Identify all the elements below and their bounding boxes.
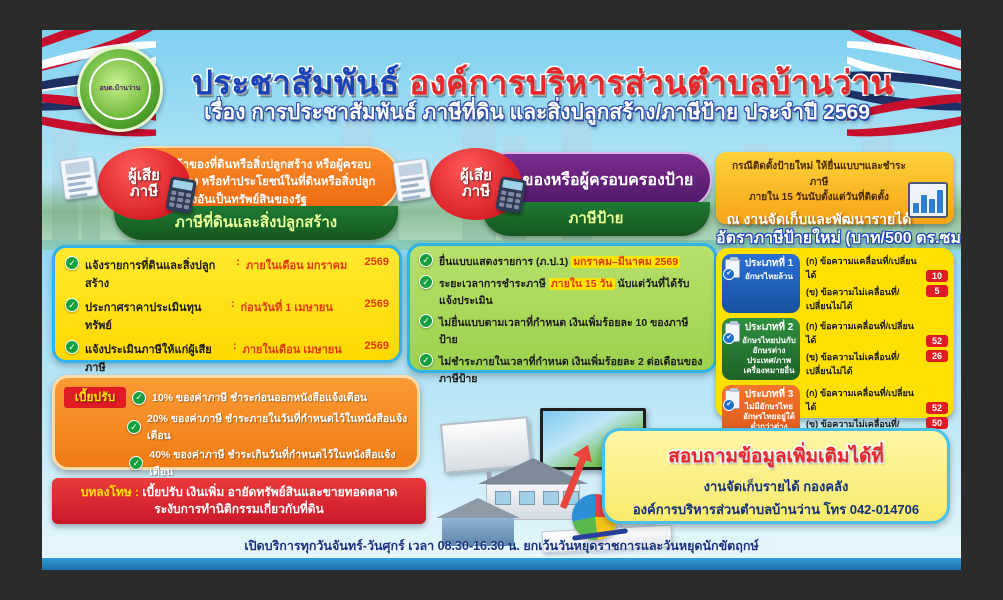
rate-category-title: ประเภทที่ 3 <box>742 389 796 402</box>
document-icon-sign <box>392 158 431 202</box>
colon-separator: : <box>233 340 237 352</box>
rate-lines: (ก) ข้อความเคลื่อนที่/เปลี่ยนได้ (ข) ข้อ… <box>806 318 920 380</box>
service-hours-footer: เปิดบริการทุกวันจันทร์-วันศุกร์ เวลา 08.… <box>42 536 961 556</box>
sign-payer-line1: ผู้เสีย <box>460 168 492 184</box>
contact-line2: องค์การบริหารส่วนตำบลบ้านว่าน โทร 042-01… <box>613 499 939 520</box>
schedule-item-label: ประกาศราคาประเมินทุนทรัพย์ <box>85 298 225 334</box>
clipboard-check-icon <box>725 259 740 278</box>
bottom-accent-bar <box>42 558 961 570</box>
rate-row: ประเภทที่ 2 อักษรไทยปนกับ อักษรต่างประเท… <box>722 318 948 380</box>
check-icon: ✓ <box>65 256 79 270</box>
bar-chart-monitor-icon <box>908 182 948 218</box>
sign-payer-line2: ภาษี <box>462 184 490 200</box>
rate-line-text: (ก) ข้อความแคลื่อนที่/เปลี่ยนได้ <box>806 254 920 282</box>
new-sign-line2: ภายใน 15 วันนับตั้งแต่วันที่ติดตั้ง <box>749 192 889 203</box>
check-icon: ✓ <box>419 353 433 367</box>
fine-tag-spacer <box>64 426 121 428</box>
sign-tax-bullets-panel: ✓ ยื่นแบบแสดงรายการ (ภ.ป.1) มกราคม–มีนาค… <box>407 243 717 373</box>
rate-category-1: ประเภทที่ 1 อักษรไทยล้วน <box>722 254 800 313</box>
sign-bullet-pre: ยื่นแบบแสดงรายการ (ภ.ป.1) <box>439 256 571 268</box>
criminal-line1: เบี้ยปรับ เงินเพิ่ม อายัดทรัพย์สินและขาย… <box>139 485 397 499</box>
fine-item: 20% ของค่าภาษี ชำระภายในวันที่กำหนดไว้ใน… <box>147 410 408 444</box>
check-icon: ✓ <box>127 420 141 434</box>
rate-row: ประเภทที่ 1 อักษรไทยล้วน (ก) ข้อความแคลื… <box>722 254 948 313</box>
sign-bullet: ระยะเวลาการชำระภาษี ภายใน 15 วัน นับแต่ว… <box>439 275 705 309</box>
rate-category-title: ประเภทที่ 1 <box>742 258 796 271</box>
contact-line1: งานจัดเก็บรายได้ กองคลัง <box>613 476 939 497</box>
contact-heading: สอบถามข้อมูลเพิ่มเติมได้ที่ <box>613 441 939 471</box>
check-icon: ✓ <box>65 298 79 312</box>
rate-value: 50 <box>926 417 948 429</box>
sign-bullet-pre: ระยะเวลาการชำระภาษี <box>439 278 549 290</box>
schedule-item-year: 2569 <box>356 298 389 310</box>
clipboard-check-icon <box>725 390 740 409</box>
schedule-item-when: ก่อนวันที่ 1 เมษายน <box>240 298 349 316</box>
crest-inner-text: อบต.บ้านว่าน <box>89 58 151 120</box>
rate-value: 10 <box>926 270 948 282</box>
check-icon: ✓ <box>65 340 79 354</box>
document-icon-land <box>59 156 98 200</box>
new-sign-line1: กรณีติดตั้งป้ายใหม่ ให้ยื่นแบบฯและชำระภา… <box>732 161 906 188</box>
criminal-tag: บทลงโทษ : <box>81 485 139 499</box>
contact-box: สอบถามข้อมูลเพิ่มเติมได้ที่ งานจัดเก็บรา… <box>602 428 950 524</box>
criminal-penalty-bar: บทลงโทษ : เบี้ยปรับ เงินเพิ่ม อายัดทรัพย… <box>52 478 426 524</box>
rate-category-desc: อักษรไทยปนกับ อักษรต่างประเทศ/ภาพ เครื่อ… <box>742 336 796 375</box>
fine-item: 10% ของค่าภาษี ชำระก่อนออกหนังสือแจ้งเตื… <box>152 389 367 406</box>
check-icon: ✓ <box>132 391 146 405</box>
criminal-line2: ระงับการทำนิติกรรมเกี่ยวกับที่ดิน <box>154 502 323 516</box>
rate-value: 26 <box>926 350 948 362</box>
schedule-item-when: ภายในเดือน มกราคม <box>246 256 351 274</box>
sign-bullet-highlight: ภายใน 15 วัน <box>549 278 615 290</box>
rate-value: 5 <box>926 285 948 297</box>
schedule-item-label: แจ้งรายการที่ดินและสิ่งปลูกสร้าง <box>85 256 230 292</box>
rate-category-desc: อักษรไทยล้วน <box>745 272 793 281</box>
rate-values: 52 26 <box>926 318 948 380</box>
schedule-item-year: 2569 <box>356 340 389 352</box>
penalty-panel: เบี้ยปรับ ✓ 10% ของค่าภาษี ชำระก่อนออกหน… <box>52 375 420 470</box>
organization-crest-logo: อบต.บ้านว่าน <box>77 46 163 132</box>
rate-category-2: ประเภทที่ 2 อักษรไทยปนกับ อักษรต่างประเท… <box>722 318 800 380</box>
sign-bullet-highlight: มกราคม–มีนาคม 2569 <box>571 256 680 268</box>
fine-tag: เบี้ยปรับ <box>64 387 126 408</box>
schedule-item-when: ภายในเดือน เมษายน <box>242 340 350 358</box>
rate-value: 52 <box>926 402 948 414</box>
page-subtitle: เรื่อง การประชาสัมพันธ์ ภาษีที่ดิน และสิ… <box>192 96 882 129</box>
colon-separator: : <box>236 256 240 268</box>
schedule-item-year: 2569 <box>357 256 389 268</box>
colon-separator: : <box>231 298 235 310</box>
sign-bullet: ยื่นแบบแสดงรายการ (ภ.ป.1) มกราคม–มีนาคม … <box>439 253 705 270</box>
check-icon: ✓ <box>419 253 433 267</box>
rate-line-text: (ก) ข้อความเคลื่อนที่/เปลี่ยนได้ <box>806 319 920 347</box>
rate-line-text: (ข) ข้อความไม่เคลื่อนที่/เปลี่ยนไม่ได้ <box>806 285 920 313</box>
sign-bullet: ไม่ยื่นแบบตามเวลาที่กำหนด เงินเพิ่มร้อยล… <box>439 314 705 348</box>
rate-line-text: (ก) ข้อความเคลื่อนที่/เปลี่ยนได้ <box>806 386 920 414</box>
sign-bullet: ไม่ชำระภายในเวลาที่กำหนด เงินเพิ่มร้อยละ… <box>439 353 705 387</box>
rate-category-title: ประเภทที่ 2 <box>742 322 796 335</box>
rate-table: ประเภทที่ 1 อักษรไทยล้วน (ก) ข้อความแคลื… <box>716 248 954 418</box>
check-icon: ✓ <box>419 314 433 328</box>
land-tax-schedule-panel: ✓ แจ้งรายการที่ดินและสิ่งปลูกสร้าง : ภาย… <box>52 245 402 363</box>
rate-lines: (ก) ข้อความแคลื่อนที่/เปลี่ยนได้ (ข) ข้อ… <box>806 254 920 313</box>
fine-tag-spacer <box>64 462 123 464</box>
land-payer-line1: ผู้เสีย <box>128 168 160 184</box>
poster: อบต.บ้านว่าน ประชาสัมพันธ์ องค์การบริหาร… <box>42 30 961 570</box>
schedule-item-label: แจ้งประเมินภาษีให้แก่ผู้เสียภาษี <box>85 340 227 376</box>
clipboard-check-icon <box>725 323 740 342</box>
land-payer-line2: ภาษี <box>130 184 158 200</box>
check-icon: ✓ <box>129 456 143 470</box>
fine-item: 40% ของค่าภาษี ชำระเกินวันที่กำหนดไว้ในห… <box>149 446 408 480</box>
new-sign-notice: กรณีติดตั้งป้ายใหม่ ให้ยื่นแบบฯและชำระภา… <box>716 152 954 224</box>
rate-values: 10 5 <box>926 254 948 313</box>
rate-value: 52 <box>926 335 948 347</box>
rate-line-text: (ข) ข้อความไม่เคลื่อนที่/เปลี่ยนไม่ได้ <box>806 350 920 378</box>
check-icon: ✓ <box>419 275 433 289</box>
